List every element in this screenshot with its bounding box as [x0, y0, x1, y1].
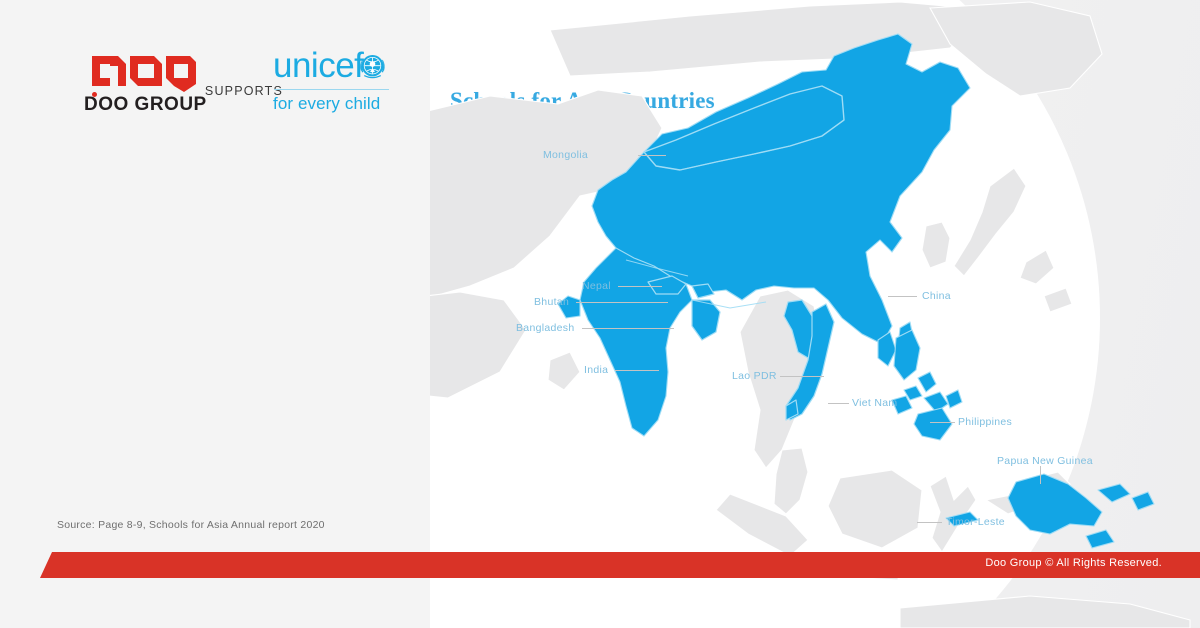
- map-label-timor-leste[interactable]: Timor-Leste: [946, 516, 1005, 528]
- map-label-lao-pdr[interactable]: Lao PDR: [732, 370, 777, 382]
- map-label-mongolia[interactable]: Mongolia: [543, 149, 588, 161]
- leader-line-china: [888, 296, 917, 297]
- map-label-papua-new-guinea[interactable]: Papua New Guinea: [997, 455, 1093, 467]
- poster-canvas: DOO GROUP SUPPORTS unicef fo: [0, 0, 1200, 628]
- unicef-tagline: for every child: [273, 94, 380, 114]
- map-label-india[interactable]: India: [584, 364, 608, 376]
- leader-line-nepal: [618, 286, 662, 287]
- map-label-china[interactable]: China: [922, 290, 951, 302]
- footer-copyright: Doo Group © All Rights Reserved.: [985, 557, 1162, 569]
- map-panel: Schools for Asia Countries: [430, 0, 1200, 628]
- leader-line-viet-nam: [828, 403, 849, 404]
- branding-header: DOO GROUP SUPPORTS unicef fo: [0, 44, 430, 124]
- leader-line-bangladesh: [582, 328, 674, 329]
- leader-line-lao-pdr: [780, 376, 824, 377]
- doo-group-logo: DOO GROUP: [88, 52, 198, 124]
- leader-line-mongolia: [638, 155, 666, 156]
- map-label-bhutan[interactable]: Bhutan: [534, 296, 569, 308]
- map-label-bangladesh[interactable]: Bangladesh: [516, 322, 574, 334]
- unicef-logo: unicef for every child: [273, 46, 423, 122]
- source-note: Source: Page 8-9, Schools for Asia Annua…: [57, 519, 325, 531]
- leader-line-papua-new-guinea: [1040, 466, 1041, 484]
- doo-group-wordmark: DOO GROUP: [84, 94, 204, 118]
- map-label-viet-nam[interactable]: Viet Nam: [852, 397, 897, 409]
- asia-map: [430, 0, 1200, 628]
- map-label-nepal[interactable]: Nepal: [582, 280, 611, 292]
- leader-line-bhutan: [576, 302, 668, 303]
- unicef-wordmark: unicef: [273, 46, 363, 86]
- leader-line-india: [615, 370, 659, 371]
- unicef-divider: [274, 89, 389, 90]
- leader-line-philippines: [930, 422, 955, 423]
- unicef-globe-emblem-icon: [356, 50, 389, 83]
- map-label-philippines[interactable]: Philippines: [958, 416, 1012, 428]
- leader-line-timor-leste: [917, 522, 942, 523]
- doo-mark-icon: [88, 52, 198, 92]
